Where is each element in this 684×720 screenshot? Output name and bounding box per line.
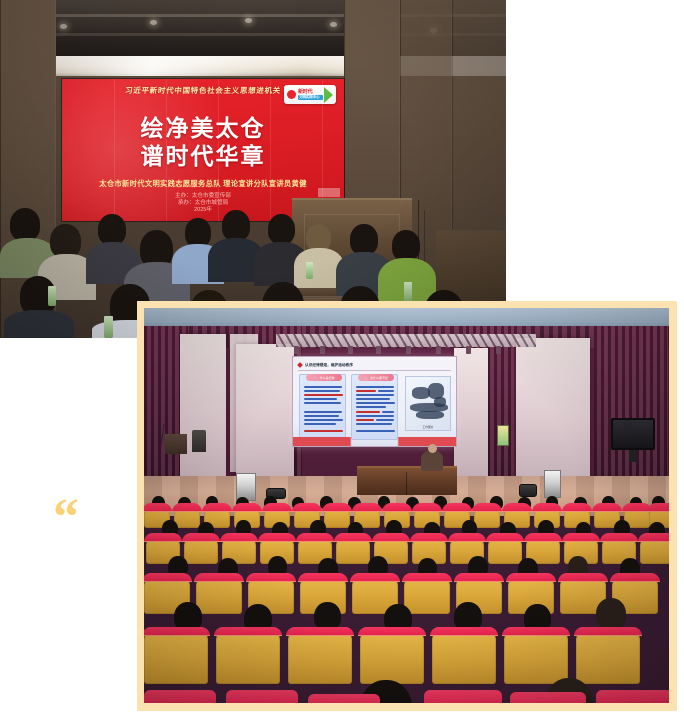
stage-light-icon (376, 346, 381, 354)
seat (288, 630, 352, 684)
slide-left-caption: 一、什么是纪律 (306, 374, 342, 381)
water-bottle (48, 286, 56, 306)
audience-head (10, 208, 40, 241)
page-root: 习近平新时代中国特色社会主义思想进机关 新时代 文明实践中心 绘净美太仓 谱时代… (0, 0, 684, 720)
seat (576, 630, 640, 684)
wall-pillar (516, 338, 590, 486)
audience-head (306, 224, 331, 251)
monitor-stand (629, 450, 637, 462)
water-bottle (404, 282, 412, 302)
stage-light-icon (466, 346, 471, 354)
seat-cushion (226, 690, 298, 703)
seat (474, 506, 500, 528)
presentation-screen: 认识纪律规矩，维护运动秩序 一、什么是纪律 二 (292, 356, 457, 447)
wall-pillar (180, 334, 226, 480)
lecture-hall-photo: 习近平新时代中国特色社会主义思想进机关 新时代 文明实践中心 绘净美太仓 谱时代… (0, 0, 506, 338)
seat (174, 506, 200, 528)
slide-divider (298, 370, 451, 371)
quote-mark-icon: “ (53, 492, 77, 544)
audience-shoulders (4, 310, 74, 338)
audience-head (98, 214, 126, 245)
audience-head (268, 214, 295, 244)
auditorium-photo-frame: 认识纪律规矩，维护运动秩序 一、什么是纪律 二 (137, 301, 677, 711)
bullet-icon (297, 362, 303, 368)
stage-cabinet (165, 434, 187, 454)
stage-light-icon (348, 346, 353, 354)
wall-pillar (454, 348, 488, 476)
stage-light-icon (436, 346, 441, 354)
audience-head (596, 598, 626, 630)
audience-head (185, 218, 211, 247)
presenter-head (428, 444, 437, 453)
slide-column-left: 一、什么是纪律 (299, 374, 346, 440)
seat (360, 630, 424, 684)
slide-column-right: 二、为什么要守纪 (351, 374, 398, 440)
seat-cushion (596, 690, 669, 703)
water-bottle (306, 262, 313, 279)
stage-light-icon (294, 346, 299, 354)
stage-light-icon (496, 346, 501, 354)
seat (404, 576, 450, 614)
seat (432, 630, 496, 684)
stage-light-icon (406, 346, 411, 354)
water-bottle (104, 316, 113, 338)
side-display-monitor (611, 418, 655, 450)
seat (488, 536, 522, 564)
seat (184, 536, 218, 564)
seat-cushion (144, 690, 216, 703)
seat-cushion (424, 690, 502, 703)
audience-head (222, 210, 250, 241)
audience-head (392, 230, 420, 261)
wall-poster (497, 425, 509, 446)
seat (504, 630, 568, 684)
illustration-caption: 工作图片 (406, 425, 450, 429)
audience-head (50, 224, 81, 258)
seat-cushion (308, 694, 380, 703)
seat (196, 576, 242, 614)
stage-chair (192, 430, 206, 452)
seat (336, 536, 370, 564)
seat (216, 630, 280, 684)
auditorium-photo: 认识纪律规矩，维护运动秩序 一、什么是纪律 二 (144, 308, 669, 703)
seat (144, 630, 208, 684)
slide-illustration: 工作图片 (405, 376, 451, 431)
slide-title: 认识纪律规矩，维护运动秩序 (305, 363, 353, 368)
presenter-body (421, 451, 443, 471)
audience-head (350, 224, 378, 255)
stage-light-icon (320, 346, 325, 354)
seat (324, 506, 350, 528)
audience-group (0, 0, 506, 338)
seat (640, 536, 669, 564)
slide-right-caption: 二、为什么要守纪 (358, 374, 394, 381)
slide-header: 认识纪律规矩，维护运动秩序 (298, 361, 451, 369)
seating-area (144, 494, 669, 703)
seat-cushion (510, 692, 586, 703)
wall-pillar (236, 344, 294, 480)
